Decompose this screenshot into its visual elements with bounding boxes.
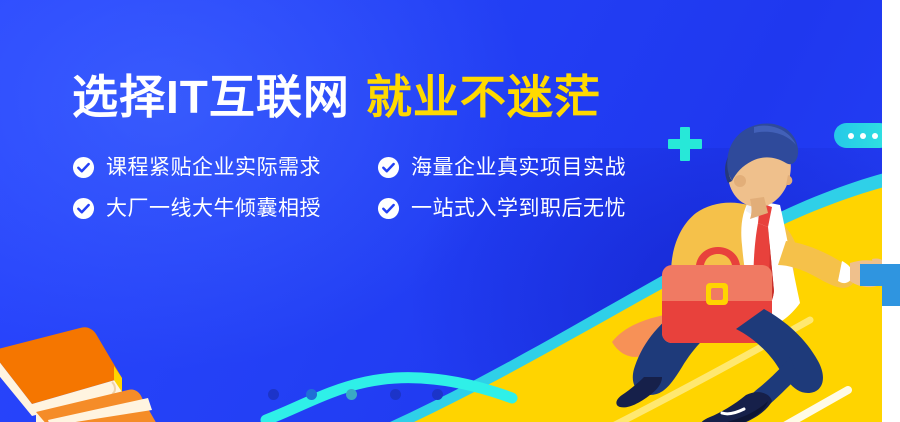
right-edge-strip — [882, 0, 900, 422]
feature-item: 大厂一线大牛倾囊相授 — [72, 197, 377, 220]
feature-label: 课程紧贴企业实际需求 — [106, 157, 321, 178]
check-circle-icon — [377, 197, 400, 220]
headline-primary: 选择IT互联网 — [72, 71, 350, 123]
feature-label: 一站式入学到职后无忧 — [411, 198, 626, 219]
check-circle-icon — [377, 156, 400, 179]
right-edge-blue-block — [882, 264, 900, 306]
feature-item: 课程紧贴企业实际需求 — [72, 156, 377, 179]
stacked-books-icon — [0, 316, 203, 422]
chat-dot — [848, 133, 854, 139]
feature-list: 课程紧贴企业实际需求 海量企业真实项目实战 — [72, 156, 692, 220]
promo-banner: 选择IT互联网就业不迷茫 课程紧贴企业实际需求 — [0, 0, 900, 422]
feature-item: 一站式入学到职后无忧 — [377, 197, 682, 220]
chat-dot — [872, 133, 878, 139]
headline-accent: 就业不迷茫 — [366, 71, 601, 123]
feature-label: 大厂一线大牛倾囊相授 — [106, 198, 321, 219]
page-title: 选择IT互联网就业不迷茫 — [72, 74, 692, 120]
feature-label: 海量企业真实项目实战 — [411, 157, 626, 178]
feature-item: 海量企业真实项目实战 — [377, 156, 682, 179]
banner-copy: 选择IT互联网就业不迷茫 课程紧贴企业实际需求 — [72, 74, 692, 220]
decorative-dots — [268, 389, 458, 403]
chat-dot — [860, 133, 866, 139]
check-circle-icon — [72, 156, 95, 179]
check-circle-icon — [72, 197, 95, 220]
right-edge-blue-square — [860, 264, 882, 286]
